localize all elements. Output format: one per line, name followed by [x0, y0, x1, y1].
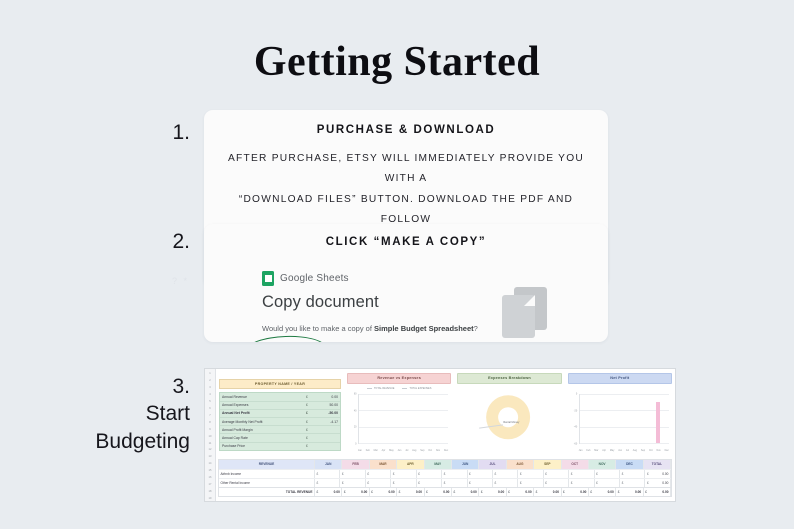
bar	[656, 402, 660, 443]
table-cell[interactable]: £	[493, 479, 518, 487]
legend-entry: TOTAL REVENUE	[367, 387, 395, 390]
table-cell[interactable]: £	[620, 470, 645, 478]
table-header-cell: OCT	[562, 460, 589, 469]
step-2-heading: CLICK “MAKE A COPY”	[204, 236, 608, 248]
table-cell[interactable]: £	[417, 470, 442, 478]
table-header-cell: NOV	[589, 460, 616, 469]
google-sheets-copy-dialog: Google Sheets Copy document Would you li…	[204, 261, 608, 342]
table-cell[interactable]: £	[340, 479, 365, 487]
chart-header-revenue-vs-expenses: Revenue vs Expenses	[347, 373, 451, 384]
property-summary-block: PROPERTY NAME / YEAR Annual Revenue£0.00…	[219, 379, 341, 451]
chart-header-expenses-breakdown: Expenses Breakdown	[457, 373, 561, 384]
step-3: 3. Start Budgeting 123456789101112131415…	[0, 368, 794, 502]
y-tick-label: -20	[574, 409, 577, 412]
table-cell[interactable]: £	[468, 479, 493, 487]
x-tick-label: Mar	[594, 449, 598, 452]
summary-row-currency: £	[306, 444, 316, 448]
line-chart-x-axis: JanFebMarAprMayJunJulAugSepOctNovDec	[358, 449, 448, 452]
table-total-cell: £0.00	[562, 488, 589, 496]
table-grand-total-cell: £0.00	[644, 488, 671, 496]
table-header-row: REVENUEJANFEBMARAPRMAYJUNJULAUGSEPOCTNOV…	[219, 460, 671, 469]
table-total-label: TOTAL REVENUE	[219, 488, 315, 496]
summary-row-label: Annual Cap Rate	[222, 436, 306, 440]
x-tick-label: Feb	[366, 449, 370, 452]
table-header-cell: SEP	[534, 460, 561, 469]
step-3-number-label: 3.	[172, 375, 190, 398]
charts-row: TOTAL REVENUE TOTAL EXPENSES 6040200 Jan…	[347, 385, 672, 453]
table-header-cell: REVENUE	[219, 460, 315, 469]
table-cell[interactable]: £	[417, 479, 442, 487]
faint-artifact-mark: ? *	[172, 276, 189, 286]
table-cell[interactable]: £	[544, 470, 569, 478]
bar-chart-plot	[579, 394, 669, 444]
summary-row: Annual Revenue£0.00	[220, 393, 340, 401]
spreadsheet-preview[interactable]: 12345678910111213141516171819 PROPERTY N…	[204, 368, 676, 502]
summary-row-label: Average Monthly Net Profit	[222, 420, 306, 424]
table-row[interactable]: Airbnb Income££££££££££££££0.00	[219, 469, 671, 478]
table-total-cell: £0.00	[507, 488, 534, 496]
table-header-cell: JUN	[452, 460, 479, 469]
property-summary-rows: Annual Revenue£0.00Annual Expenses£50.00…	[219, 392, 341, 450]
table-header-cell: MAR	[370, 460, 397, 469]
summary-row: Annual Net Profit£-50.00	[220, 410, 340, 418]
row-number: 3	[209, 384, 210, 391]
table-cell[interactable]: £	[315, 470, 340, 478]
row-number: 17	[209, 481, 212, 488]
table-total-cell: £0.00	[425, 488, 452, 496]
table-cell[interactable]: £	[620, 479, 645, 487]
document-name: Simple Budget Spreadsheet	[374, 324, 474, 333]
copy-document-question: Would you like to make a copy of Simple …	[262, 324, 608, 333]
x-tick-label: May	[610, 449, 615, 452]
question-suffix: ?	[474, 324, 478, 333]
donut-chart-expenses-breakdown: Rental Money	[457, 385, 561, 453]
table-cell[interactable]: £	[569, 470, 594, 478]
row-number: 16	[209, 474, 212, 481]
table-cell[interactable]: £	[595, 479, 620, 487]
table-cell[interactable]: £	[391, 470, 416, 478]
table-header-cell: TOTAL	[644, 460, 671, 469]
summary-row-currency: £	[306, 403, 316, 407]
x-tick-label: Feb	[586, 449, 590, 452]
row-number: 14	[209, 460, 212, 467]
row-number: 11	[209, 440, 212, 447]
summary-row-currency: £	[306, 436, 316, 440]
table-cell[interactable]: £	[442, 470, 467, 478]
table-total-row: TOTAL REVENUE£0.00£0.00£0.00£0.00£0.00£0…	[219, 487, 671, 496]
table-total-cell: £0.00	[479, 488, 506, 496]
summary-row-label: Annual Net Profit	[222, 411, 306, 415]
x-tick-label: Jan	[579, 449, 583, 452]
summary-row-label: Purchase Price	[222, 444, 306, 448]
y-tick-label: 60	[354, 393, 357, 396]
x-tick-label: May	[389, 449, 394, 452]
table-header-cell: MAY	[425, 460, 452, 469]
row-number: 18	[209, 488, 212, 495]
chart-header-row: Revenue vs Expenses Expenses Breakdown N…	[347, 373, 672, 384]
line-chart-plot	[358, 394, 448, 444]
copy-document-title: Copy document	[262, 293, 608, 312]
table-row-label: Airbnb Income	[219, 470, 315, 478]
table-header-cell: APR	[397, 460, 424, 469]
summary-row-value: 0.00	[316, 395, 338, 399]
table-total-cell: £0.00	[534, 488, 561, 496]
y-tick-label: 20	[354, 426, 357, 429]
table-total-cell: £0.00	[452, 488, 479, 496]
row-number: 7	[209, 412, 210, 419]
table-cell[interactable]: £	[340, 470, 365, 478]
table-total-cell: £0.00	[616, 488, 643, 496]
google-sheets-brand: Google Sheets	[262, 271, 608, 286]
x-tick-label: Oct	[649, 449, 653, 452]
table-header-cell: DEC	[616, 460, 643, 469]
summary-row-label: Annual Revenue	[222, 395, 306, 399]
table-cell[interactable]: £	[595, 470, 620, 478]
x-tick-label: Jun	[618, 449, 622, 452]
donut-graphic	[487, 395, 531, 439]
summary-row-currency: £	[306, 420, 316, 424]
summary-row: Annual Expenses£50.00	[220, 402, 340, 410]
table-header-cell: FEB	[342, 460, 369, 469]
x-tick-label: Mar	[374, 449, 378, 452]
property-summary-header: PROPERTY NAME / YEAR	[219, 379, 341, 389]
step-1-heading: PURCHASE & DOWNLOAD	[216, 124, 596, 136]
step-1-body-line: AFTER PURCHASE, ETSY WILL IMMEDIATELY PR…	[216, 149, 596, 190]
step-3-label-line: Budgeting	[0, 428, 190, 455]
table-total-cell: £0.00	[589, 488, 616, 496]
table-cell[interactable]: £	[468, 470, 493, 478]
page-title: Getting Started	[0, 38, 794, 86]
question-prefix: Would you like to make a copy of	[262, 324, 374, 333]
row-number: 12	[209, 446, 212, 453]
table-row[interactable]: Other Rental Income££££££££££££££0.00	[219, 478, 671, 487]
line-chart-y-axis: 6040200	[347, 394, 358, 444]
x-tick-label: Oct	[428, 449, 432, 452]
google-sheets-icon	[262, 271, 274, 286]
revenue-table[interactable]: REVENUEJANFEBMARAPRMAYJUNJULAUGSEPOCTNOV…	[218, 459, 672, 497]
row-number: 10	[209, 433, 212, 440]
row-number: 6	[209, 405, 210, 412]
x-tick-label: Dec	[444, 449, 448, 452]
step-2-card: CLICK “MAKE A COPY” Google Sheets Copy d…	[204, 224, 608, 342]
step-2: 2. CLICK “MAKE A COPY” Google Sheets Cop…	[0, 224, 794, 342]
table-total-cell: £0.00	[342, 488, 369, 496]
row-number: 19	[209, 495, 212, 502]
line-chart-revenue-vs-expenses: TOTAL REVENUE TOTAL EXPENSES 6040200 Jan…	[347, 385, 451, 453]
table-total-cell: £0.00	[315, 488, 342, 496]
x-tick-label: Sep	[641, 449, 645, 452]
summary-row: Average Monthly Net Profit£-4.17	[220, 418, 340, 426]
table-cell[interactable]: £	[315, 479, 340, 487]
google-sheets-brand-label: Google Sheets	[280, 273, 349, 284]
x-tick-label: Aug	[633, 449, 637, 452]
y-tick-label: 0	[355, 443, 356, 446]
x-tick-label: Nov	[436, 449, 440, 452]
highlight-ellipse-annotation	[246, 335, 327, 342]
x-tick-label: Sep	[420, 449, 424, 452]
summary-row: Annual Cap Rate£	[220, 434, 340, 442]
step-2-number: 2.	[0, 224, 204, 255]
row-number: 8	[209, 419, 210, 426]
row-number: 1	[209, 370, 210, 377]
y-tick-label: 0	[576, 393, 577, 396]
table-cell[interactable]: £	[391, 479, 416, 487]
table-total-cell: £0.00	[370, 488, 397, 496]
donut-ring	[487, 395, 531, 439]
summary-row: Annual Profit Margin£	[220, 426, 340, 434]
x-tick-label: Jul	[405, 449, 408, 452]
table-cell[interactable]: £	[518, 479, 543, 487]
table-cell-total[interactable]: £0.00	[645, 470, 670, 478]
table-cell-total[interactable]: £0.00	[645, 479, 670, 487]
table-cell[interactable]: £	[442, 479, 467, 487]
row-number: 4	[209, 391, 210, 398]
step-1-number: 1.	[0, 110, 204, 146]
bar-chart-net-profit: 0-20-40-60 JanFebMarAprMayJunJulAugSepOc…	[568, 385, 672, 453]
table-header-cell: AUG	[507, 460, 534, 469]
step-3-number: 3. Start Budgeting	[0, 368, 204, 455]
x-tick-label: Jun	[398, 449, 402, 452]
summary-row-currency: £	[306, 428, 316, 432]
summary-row-label: Annual Profit Margin	[222, 428, 306, 432]
row-number: 15	[209, 467, 212, 474]
y-tick-label: 40	[354, 409, 357, 412]
row-number: 13	[209, 453, 212, 460]
document-stack-icon	[502, 287, 550, 341]
y-tick-label: -60	[574, 443, 577, 446]
table-cell[interactable]: £	[493, 470, 518, 478]
summary-row-currency: £	[306, 395, 316, 399]
table-cell[interactable]: £	[544, 479, 569, 487]
summary-row-value: -4.17	[316, 420, 338, 424]
row-number: 5	[209, 398, 210, 405]
table-header-cell: JAN	[315, 460, 342, 469]
x-tick-label: Aug	[412, 449, 416, 452]
table-header-cell: JUL	[479, 460, 506, 469]
summary-row: Purchase Price£	[220, 443, 340, 450]
y-tick-label: -40	[574, 426, 577, 429]
donut-slice-label: Rental Money	[503, 421, 519, 424]
summary-row-value: -50.00	[316, 411, 338, 415]
document-front-icon	[502, 295, 535, 338]
chart-header-net-profit: Net Profit	[568, 373, 672, 384]
x-tick-label: Dec	[665, 449, 669, 452]
table-total-cell: £0.00	[397, 488, 424, 496]
x-tick-label: Nov	[657, 449, 661, 452]
table-cell[interactable]: £	[569, 479, 594, 487]
table-cell[interactable]: £	[518, 470, 543, 478]
x-tick-label: Jul	[626, 449, 629, 452]
row-number: 9	[209, 426, 210, 433]
row-number: 2	[209, 377, 210, 384]
x-tick-label: Jan	[358, 449, 362, 452]
x-tick-label: Apr	[382, 449, 386, 452]
summary-row-currency: £	[306, 411, 316, 415]
table-cell[interactable]: £	[366, 470, 391, 478]
x-tick-label: Apr	[602, 449, 606, 452]
table-row-label: Other Rental Income	[219, 479, 315, 487]
summary-row-value: 50.00	[316, 403, 338, 407]
step-3-label-line: Start	[0, 400, 190, 427]
line-chart-legend: TOTAL REVENUE TOTAL EXPENSES	[347, 387, 451, 390]
bar-chart-y-axis: 0-20-40-60	[568, 394, 579, 444]
legend-entry: TOTAL EXPENSES	[402, 387, 431, 390]
table-cell[interactable]: £	[366, 479, 391, 487]
bar-chart-x-axis: JanFebMarAprMayJunJulAugSepOctNovDec	[579, 449, 669, 452]
summary-row-label: Annual Expenses	[222, 403, 306, 407]
